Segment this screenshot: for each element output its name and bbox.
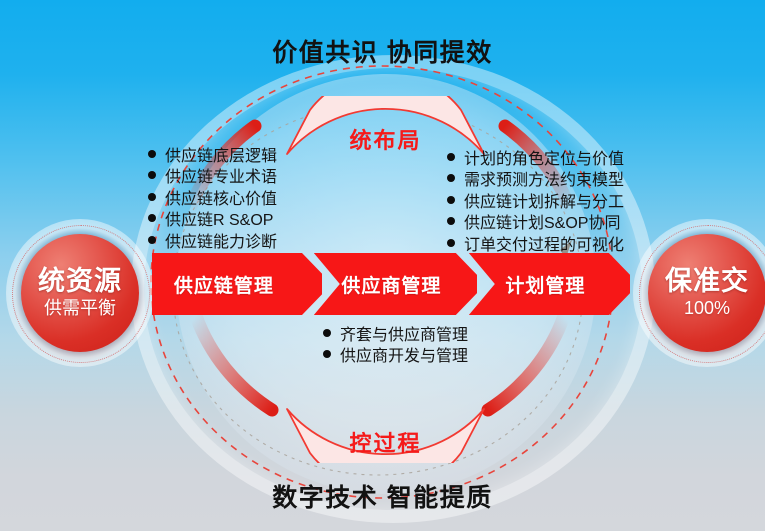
bullet-dot-icon [323,350,331,358]
list-item-label: 订单交付过程的可视化 [464,235,624,256]
bullet-dot-icon [148,214,156,222]
list-item: 供应商开发与管理 [323,346,468,367]
bullet-dot-icon [447,239,455,247]
list-item-label: 供应链核心价值 [165,189,277,210]
list-item-label: 需求预测方法约束模型 [464,170,624,191]
list-item: 供应链能力诊断 [148,232,277,253]
bullet-dot-icon [148,193,156,201]
right-circle-badge[interactable]: 保准交 100% [633,219,765,367]
list-item: 齐套与供应商管理 [323,325,468,346]
infographic-canvas: 统布局 控过程 价值共识 协同提效 数字技术 智能提质 统资源 供需平衡 保准交… [0,0,765,531]
bullet-dot-icon [447,217,455,225]
banner-bottom-shape [283,405,488,463]
list-item-label: 供应链计划S&OP协同 [464,213,620,234]
list-item: 供应链底层逻辑 [148,146,277,167]
process-chevron-row: 供应链管理 供应商管理 计划管理 [152,253,630,315]
banner-bottom-text: 控过程 [283,426,488,458]
list-item-label: 计划的角色定位与价值 [464,149,624,170]
list-item: 供应链专业术语 [148,167,277,188]
list-item: 供应链计划S&OP协同 [447,213,624,234]
bullet-dot-icon [323,329,331,337]
chevron-step-1-label: 供应链管理 [174,271,274,298]
chevron-step-2[interactable]: 供应商管理 [314,253,477,315]
list-item-label: 齐套与供应商管理 [340,325,468,346]
bullet-dot-icon [447,153,455,161]
bullet-dot-icon [148,171,156,179]
chevron-step-3-label: 计划管理 [505,271,585,298]
list-item: 供应链R S&OP [148,210,277,231]
right-circle-title: 保准交 [665,267,749,295]
bullet-dot-icon [447,196,455,204]
left-circle-badge[interactable]: 统资源 供需平衡 [6,219,154,367]
list-item-label: 供应链计划拆解与分工 [464,192,624,213]
left-circle-title: 统资源 [38,267,122,295]
list-item-label: 供应商开发与管理 [340,346,468,367]
list-item-label: 供应链能力诊断 [165,232,277,253]
right-circle-body: 保准交 100% [648,234,765,352]
list-item-label: 供应链底层逻辑 [165,146,277,167]
banner-bottom-label-wrap: 控过程 [283,405,488,463]
page-title-top: 价值共识 协同提效 [0,33,765,69]
bullet-list-left: 供应链底层逻辑 供应链专业术语 供应链核心价值 供应链R S&OP 供应链能力诊… [148,146,277,253]
bullet-list-right: 计划的角色定位与价值 需求预测方法约束模型 供应链计划拆解与分工 供应链计划S&… [447,149,624,256]
chevron-step-1[interactable]: 供应链管理 [152,253,322,315]
page-title-bottom: 数字技术 智能提质 [0,478,765,514]
list-item-label: 供应链R S&OP [165,210,273,231]
bullet-dot-icon [148,150,156,158]
left-circle-body: 统资源 供需平衡 [21,234,139,352]
list-item: 订单交付过程的可视化 [447,235,624,256]
list-item: 供应链核心价值 [148,189,277,210]
list-item: 供应链计划拆解与分工 [447,192,624,213]
chevron-step-2-label: 供应商管理 [341,271,441,298]
list-item-label: 供应链专业术语 [165,167,277,188]
right-circle-subtitle: 100% [684,299,730,319]
list-item: 计划的角色定位与价值 [447,149,624,170]
bullet-list-bottom: 齐套与供应商管理 供应商开发与管理 [323,325,468,368]
left-circle-subtitle: 供需平衡 [44,299,116,319]
bullet-dot-icon [447,174,455,182]
list-item: 需求预测方法约束模型 [447,170,624,191]
bullet-dot-icon [148,236,156,244]
chevron-step-3[interactable]: 计划管理 [469,253,630,315]
